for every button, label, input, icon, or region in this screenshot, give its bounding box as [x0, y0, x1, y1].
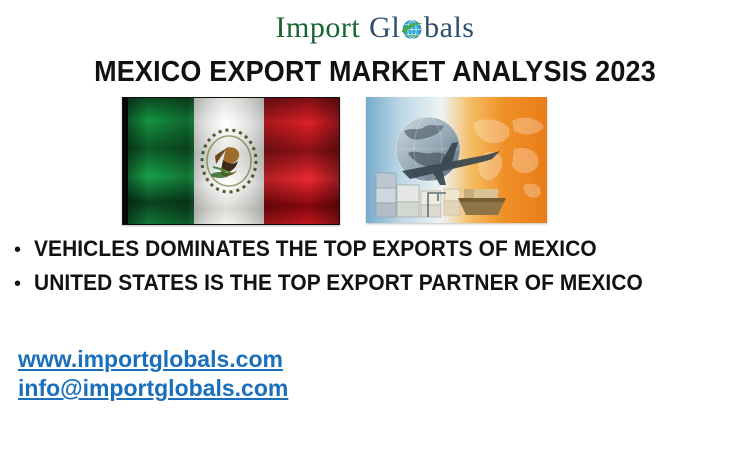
global-trade-image	[366, 97, 547, 223]
bullet-dot-icon: •	[14, 267, 34, 301]
globe-icon	[400, 18, 424, 42]
list-item: • VEHICLES DOMINATES THE TOP EXPORTS OF …	[14, 232, 740, 266]
website-link[interactable]: www.importglobals.com	[18, 345, 288, 374]
mexico-flag-image	[122, 97, 340, 225]
bullet-text: VEHICLES DOMINATES THE TOP EXPORTS OF ME…	[34, 232, 597, 266]
contact-block: www.importglobals.com info@importglobals…	[18, 345, 288, 403]
brand-logo: Import Gl bals	[0, 8, 750, 48]
email-link[interactable]: info@importglobals.com	[18, 374, 288, 403]
list-item: • UNITED STATES IS THE TOP EXPORT PARTNE…	[14, 266, 740, 300]
brand-logo-text: Import Gl bals	[276, 13, 475, 43]
bullet-list: • VEHICLES DOMINATES THE TOP EXPORTS OF …	[14, 232, 740, 300]
brand-word-gl-prefix: Gl	[369, 13, 400, 43]
slide-canvas: Import Gl bals MEXICO EXPORT MARKET ANAL…	[0, 0, 750, 450]
bullet-dot-icon: •	[14, 233, 34, 267]
brand-word-import: Import	[276, 13, 361, 43]
page-title: MEXICO EXPORT MARKET ANALYSIS 2023	[26, 55, 724, 89]
image-row	[122, 97, 547, 225]
brand-word-bals-suffix: bals	[424, 13, 474, 43]
bullet-text: UNITED STATES IS THE TOP EXPORT PARTNER …	[34, 266, 643, 300]
